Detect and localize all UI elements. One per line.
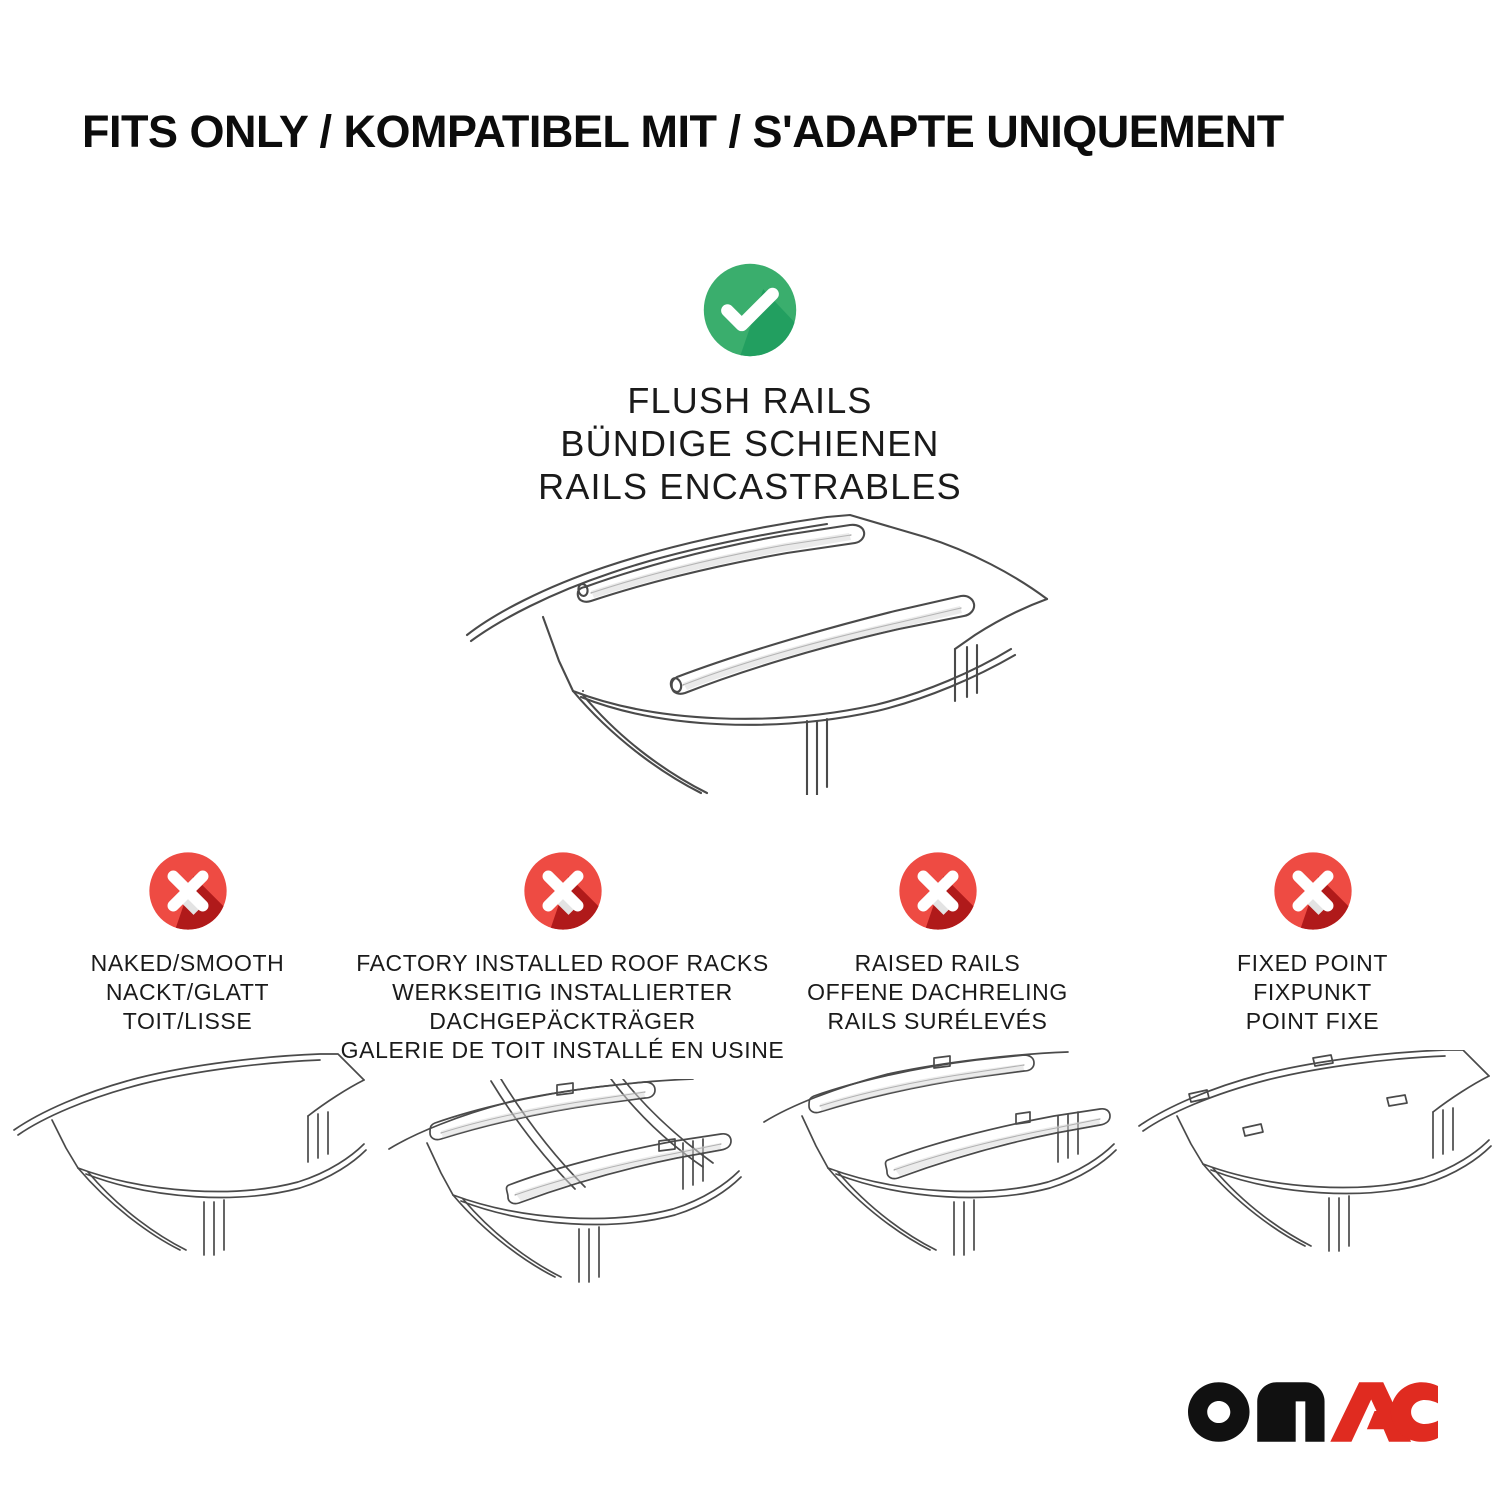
label-en: FIXED POINT [1237, 949, 1388, 978]
cross-circle-icon [1267, 845, 1359, 937]
incompatible-section: NAKED/SMOOTH NACKT/GLATT TOIT/LISSE [0, 845, 1500, 1294]
incompatible-item-naked-smooth: NAKED/SMOOTH NACKT/GLATT TOIT/LISSE [0, 845, 375, 1294]
incompatible-item-fixed-point: FIXED POINT FIXPUNKT POINT FIXE [1125, 845, 1500, 1294]
label-en: RAISED RAILS [807, 949, 1068, 978]
hero-label-de: BÜNDIGE SCHIENEN [0, 422, 1500, 465]
incompatible-item-factory-racks: FACTORY INSTALLED ROOF RACKS WERKSEITIG … [375, 845, 750, 1294]
cross-circle-icon [892, 845, 984, 937]
label-de-2: DACHGEPÄCKTRÄGER [341, 1007, 785, 1036]
car-roof-flush-rails-illustration [455, 495, 1055, 795]
logo-letter-o [1188, 1382, 1250, 1442]
incompatible-labels: FACTORY INSTALLED ROOF RACKS WERKSEITIG … [337, 949, 789, 1065]
incompatible-labels: RAISED RAILS OFFENE DACHRELING RAILS SUR… [803, 949, 1072, 1036]
label-fr: GALERIE DE TOIT INSTALLÉ EN USINE [341, 1036, 785, 1065]
label-fr: TOIT/LISSE [91, 1007, 285, 1036]
label-de: OFFENE DACHRELING [807, 978, 1068, 1007]
label-en: NAKED/SMOOTH [91, 949, 285, 978]
compatible-labels: FLUSH RAILS BÜNDIGE SCHIENEN RAILS ENCAS… [0, 379, 1500, 508]
check-circle-icon [695, 255, 805, 365]
label-de-1: WERKSEITIG INSTALLIERTER [341, 978, 785, 1007]
logo-letter-m [1257, 1382, 1324, 1442]
cross-circle-icon [142, 845, 234, 937]
car-roof-naked-smooth-illustration [8, 1050, 368, 1265]
car-roof-raised-rails-illustration [758, 1050, 1118, 1265]
compatible-section: FLUSH RAILS BÜNDIGE SCHIENEN RAILS ENCAS… [0, 255, 1500, 508]
incompatible-labels: NAKED/SMOOTH NACKT/GLATT TOIT/LISSE [87, 949, 289, 1036]
incompatible-item-raised-rails: RAISED RAILS OFFENE DACHRELING RAILS SUR… [750, 845, 1125, 1294]
page-title: FITS ONLY / KOMPATIBEL MIT / S'ADAPTE UN… [82, 106, 1284, 158]
label-fr: POINT FIXE [1237, 1007, 1388, 1036]
label-fr: RAILS SURÉLEVÉS [807, 1007, 1068, 1036]
label-de: NACKT/GLATT [91, 978, 285, 1007]
incompatible-labels: FIXED POINT FIXPUNKT POINT FIXE [1233, 949, 1392, 1036]
label-en: FACTORY INSTALLED ROOF RACKS [341, 949, 785, 978]
car-roof-fixed-point-illustration [1133, 1050, 1493, 1265]
omac-logo: OMAC [1188, 1374, 1438, 1442]
cross-circle-icon [517, 845, 609, 937]
car-roof-factory-racks-illustration [383, 1079, 743, 1294]
hero-label-en: FLUSH RAILS [0, 379, 1500, 422]
label-de: FIXPUNKT [1237, 978, 1388, 1007]
